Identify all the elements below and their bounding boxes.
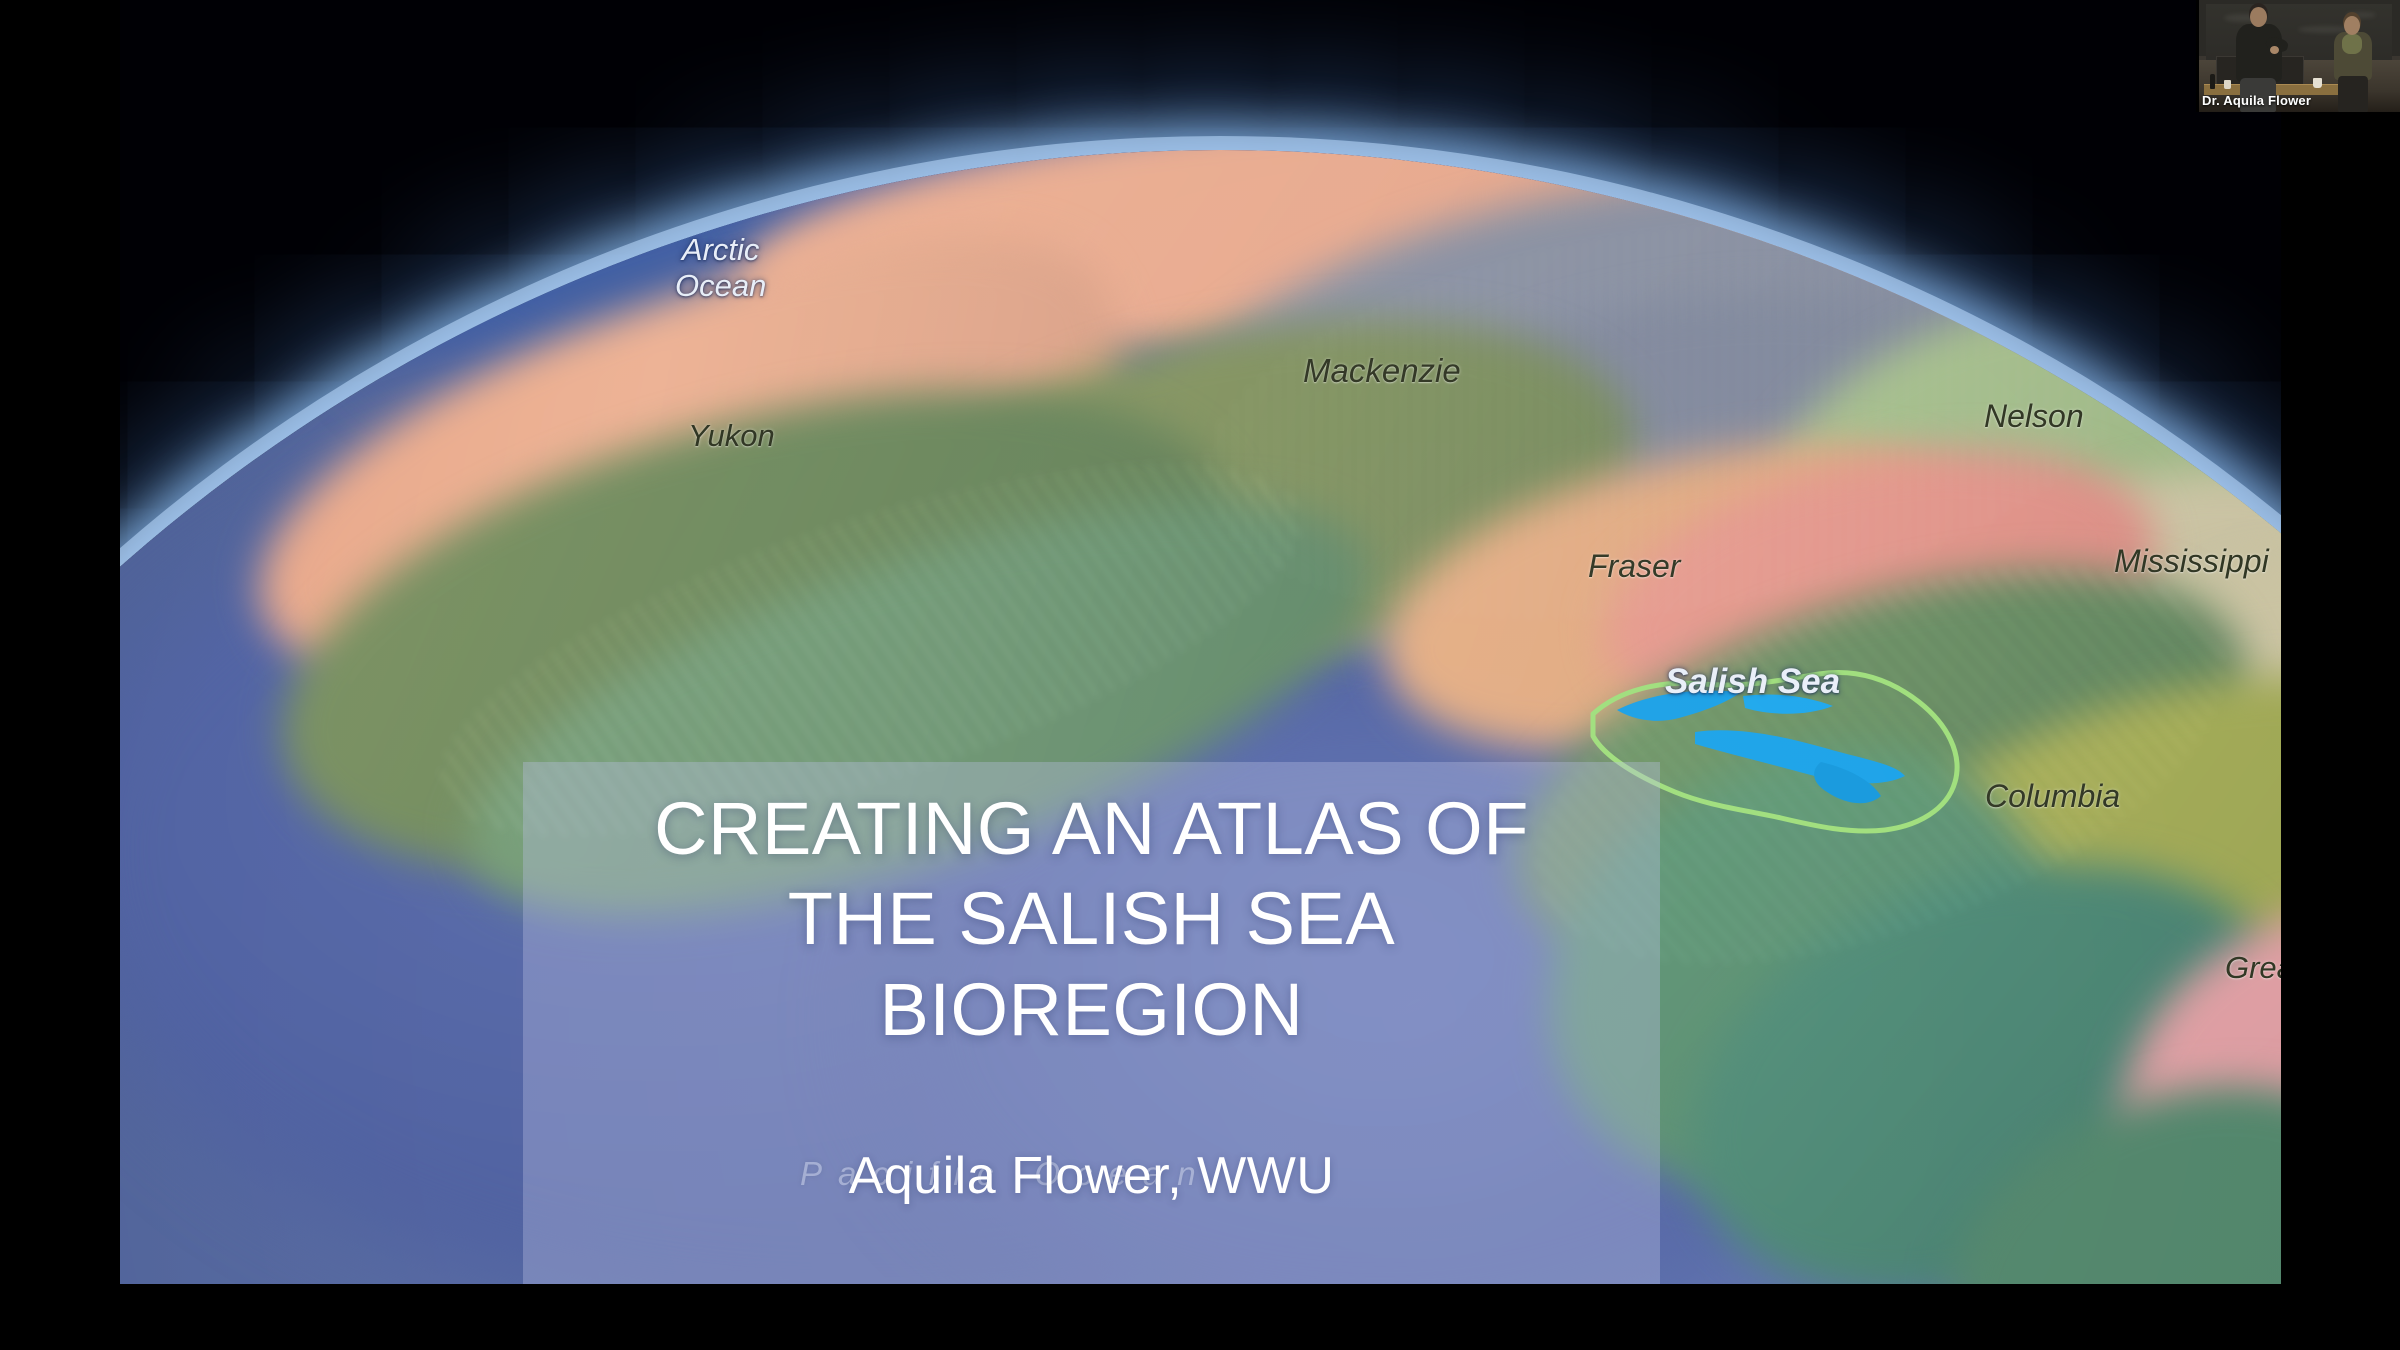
bottle-icon xyxy=(2210,74,2215,89)
slide-title: CREATING AN ATLAS OF THE SALISH SEA BIOR… xyxy=(523,784,1660,1055)
presenter-2-legs xyxy=(2338,76,2368,112)
presenter-1-head xyxy=(2250,7,2267,27)
slide-title-line-1: CREATING AN ATLAS OF xyxy=(654,787,1529,870)
thumbnail-left-edge xyxy=(2196,0,2199,112)
presenter-name-label: Dr. Aquila Flower xyxy=(2196,92,2317,110)
presenter-2-head xyxy=(2344,16,2360,35)
cup-icon xyxy=(2313,78,2322,88)
slide-title-line-2: THE SALISH SEA xyxy=(788,877,1395,960)
presenter-1-hand xyxy=(2270,46,2279,54)
slide-title-line-3: BIOREGION xyxy=(880,968,1304,1051)
cup-icon xyxy=(2224,80,2231,89)
presentation-slide: Arctic Ocean Yukon Mackenzie Nelson Fras… xyxy=(120,0,2281,1284)
slide-subtitle: Aquila Flower, WWU xyxy=(523,1146,1660,1206)
presenter-video-thumbnail[interactable]: Dr. Aquila Flower xyxy=(2196,0,2400,112)
title-overlay-panel: CREATING AN ATLAS OF THE SALISH SEA BIOR… xyxy=(523,762,1660,1284)
presenter-2-scarf xyxy=(2342,34,2362,54)
screen-root: Arctic Ocean Yukon Mackenzie Nelson Fras… xyxy=(0,0,2400,1350)
